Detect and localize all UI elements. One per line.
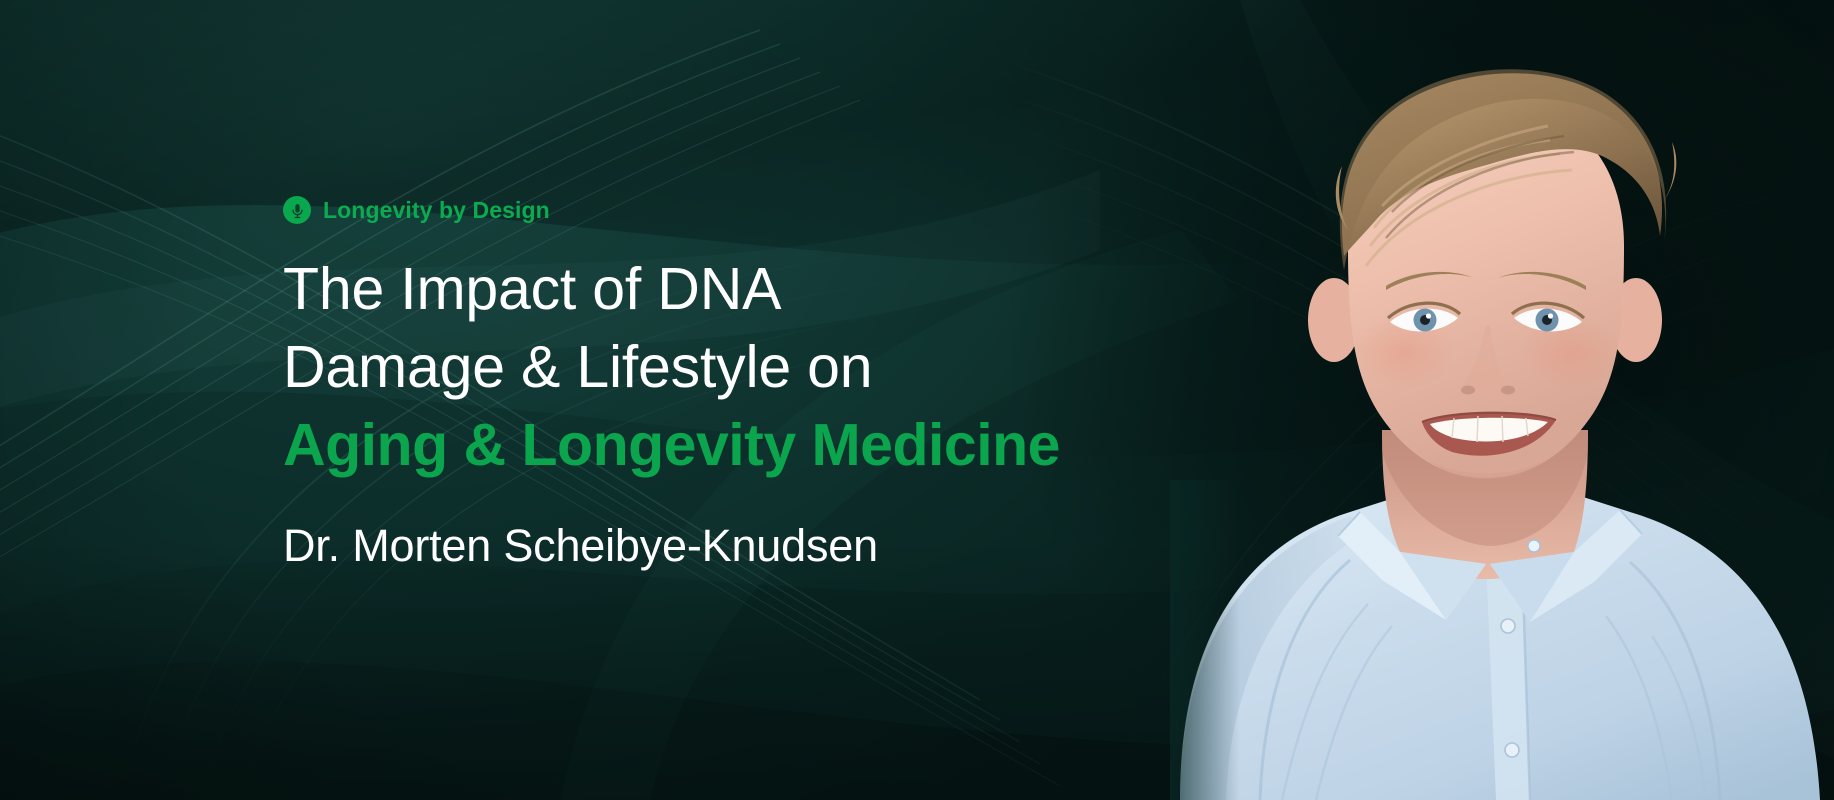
episode-banner: Longevity by Design The Impact of DNA Da… [0, 0, 1834, 800]
collar-button [1528, 540, 1540, 552]
speaker-name: Dr. Morten Scheibye-Knudsen [283, 520, 1053, 572]
banner-content: Longevity by Design The Impact of DNA Da… [283, 196, 1053, 572]
episode-title-line-2: Damage & Lifestyle on [283, 328, 1053, 406]
episode-title-line-1: The Impact of DNA [283, 250, 1053, 328]
shirt-button [1501, 619, 1515, 633]
shirt-button [1505, 743, 1519, 757]
episode-title-line-3-accent: Aging & Longevity Medicine [283, 406, 1053, 484]
microphone-icon [283, 196, 311, 224]
podcast-brand-label: Longevity by Design [323, 197, 550, 224]
podcast-brand[interactable]: Longevity by Design [283, 196, 1053, 224]
speaker-portrait [930, 60, 1830, 800]
episode-title: The Impact of DNA Damage & Lifestyle on … [283, 250, 1053, 484]
speaker-portrait-image [930, 60, 1830, 800]
